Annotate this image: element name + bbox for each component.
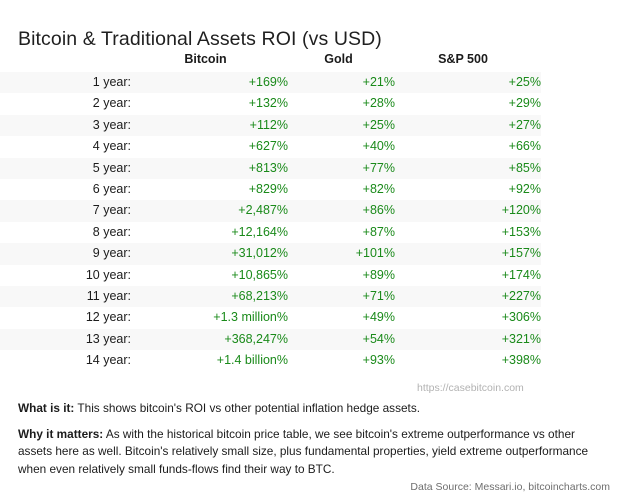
note-why-label: Why it matters:: [18, 427, 103, 441]
note-why-it-matters: Why it matters: As with the historical b…: [18, 426, 610, 479]
cell-sp500: +306%: [395, 307, 541, 328]
row-label: 11 year:: [0, 286, 131, 307]
table-row: 8 year:+12,164%+87%+153%: [0, 222, 541, 243]
cell-gold: +89%: [288, 265, 395, 286]
column-header-sp500: S&P 500: [395, 52, 541, 72]
cell-sp500: +321%: [395, 329, 541, 350]
column-header-bitcoin: Bitcoin: [131, 52, 288, 72]
cell-bitcoin: +10,865%: [131, 265, 288, 286]
row-label: 12 year:: [0, 307, 131, 328]
table-row: 13 year:+368,247%+54%+321%: [0, 329, 541, 350]
column-header-period: [0, 52, 131, 72]
note-what-is-it: What is it: This shows bitcoin's ROI vs …: [18, 400, 610, 418]
table-row: 14 year:+1.4 billion%+93%+398%: [0, 350, 541, 371]
row-label: 7 year:: [0, 200, 131, 221]
cell-sp500: +398%: [395, 350, 541, 371]
header-row: Bitcoin Gold S&P 500: [0, 52, 541, 72]
cell-bitcoin: +31,012%: [131, 243, 288, 264]
table-row: 1 year:+169%+21%+25%: [0, 72, 541, 93]
table-row: 4 year:+627%+40%+66%: [0, 136, 541, 157]
row-label: 10 year:: [0, 265, 131, 286]
cell-gold: +71%: [288, 286, 395, 307]
table-row: 2 year:+132%+28%+29%: [0, 93, 541, 114]
cell-sp500: +157%: [395, 243, 541, 264]
roi-table: Bitcoin Gold S&P 500 1 year:+169%+21%+25…: [0, 52, 541, 372]
cell-sp500: +85%: [395, 158, 541, 179]
table-body: 1 year:+169%+21%+25%2 year:+132%+28%+29%…: [0, 72, 541, 372]
table-row: 3 year:+112%+25%+27%: [0, 115, 541, 136]
cell-gold: +93%: [288, 350, 395, 371]
cell-bitcoin: +1.3 million%: [131, 307, 288, 328]
note-why-text: As with the historical bitcoin price tab…: [18, 427, 588, 476]
cell-sp500: +227%: [395, 286, 541, 307]
cell-gold: +25%: [288, 115, 395, 136]
page-title: Bitcoin & Traditional Assets ROI (vs USD…: [18, 28, 382, 51]
cell-gold: +101%: [288, 243, 395, 264]
column-header-gold: Gold: [288, 52, 395, 72]
cell-bitcoin: +627%: [131, 136, 288, 157]
note-what-label: What is it:: [18, 401, 74, 415]
table-row: 10 year:+10,865%+89%+174%: [0, 265, 541, 286]
cell-sp500: +25%: [395, 72, 541, 93]
cell-gold: +49%: [288, 307, 395, 328]
cell-gold: +86%: [288, 200, 395, 221]
data-source-caption: Data Source: Messari.io, bitcoincharts.c…: [0, 481, 610, 493]
row-label: 2 year:: [0, 93, 131, 114]
cell-gold: +87%: [288, 222, 395, 243]
cell-sp500: +92%: [395, 179, 541, 200]
row-label: 9 year:: [0, 243, 131, 264]
cell-sp500: +29%: [395, 93, 541, 114]
cell-sp500: +120%: [395, 200, 541, 221]
cell-bitcoin: +813%: [131, 158, 288, 179]
table-row: 12 year:+1.3 million%+49%+306%: [0, 307, 541, 328]
row-label: 8 year:: [0, 222, 131, 243]
watermark: https://casebitcoin.com: [417, 382, 524, 394]
cell-sp500: +27%: [395, 115, 541, 136]
cell-sp500: +153%: [395, 222, 541, 243]
cell-bitcoin: +169%: [131, 72, 288, 93]
table-row: 9 year:+31,012%+101%+157%: [0, 243, 541, 264]
cell-bitcoin: +829%: [131, 179, 288, 200]
cell-sp500: +174%: [395, 265, 541, 286]
table-row: 7 year:+2,487%+86%+120%: [0, 200, 541, 221]
row-label: 13 year:: [0, 329, 131, 350]
cell-bitcoin: +68,213%: [131, 286, 288, 307]
cell-bitcoin: +2,487%: [131, 200, 288, 221]
cell-bitcoin: +368,247%: [131, 329, 288, 350]
table-header: Bitcoin Gold S&P 500: [0, 52, 541, 72]
row-label: 3 year:: [0, 115, 131, 136]
cell-sp500: +66%: [395, 136, 541, 157]
cell-gold: +82%: [288, 179, 395, 200]
note-what-text: This shows bitcoin's ROI vs other potent…: [74, 401, 420, 415]
cell-gold: +77%: [288, 158, 395, 179]
row-label: 5 year:: [0, 158, 131, 179]
table-row: 6 year:+829%+82%+92%: [0, 179, 541, 200]
cell-bitcoin: +12,164%: [131, 222, 288, 243]
cell-bitcoin: +112%: [131, 115, 288, 136]
row-label: 14 year:: [0, 350, 131, 371]
cell-bitcoin: +132%: [131, 93, 288, 114]
row-label: 4 year:: [0, 136, 131, 157]
row-label: 1 year:: [0, 72, 131, 93]
cell-gold: +21%: [288, 72, 395, 93]
row-label: 6 year:: [0, 179, 131, 200]
table-row: 11 year:+68,213%+71%+227%: [0, 286, 541, 307]
table-row: 5 year:+813%+77%+85%: [0, 158, 541, 179]
cell-bitcoin: +1.4 billion%: [131, 350, 288, 371]
cell-gold: +54%: [288, 329, 395, 350]
cell-gold: +40%: [288, 136, 395, 157]
cell-gold: +28%: [288, 93, 395, 114]
